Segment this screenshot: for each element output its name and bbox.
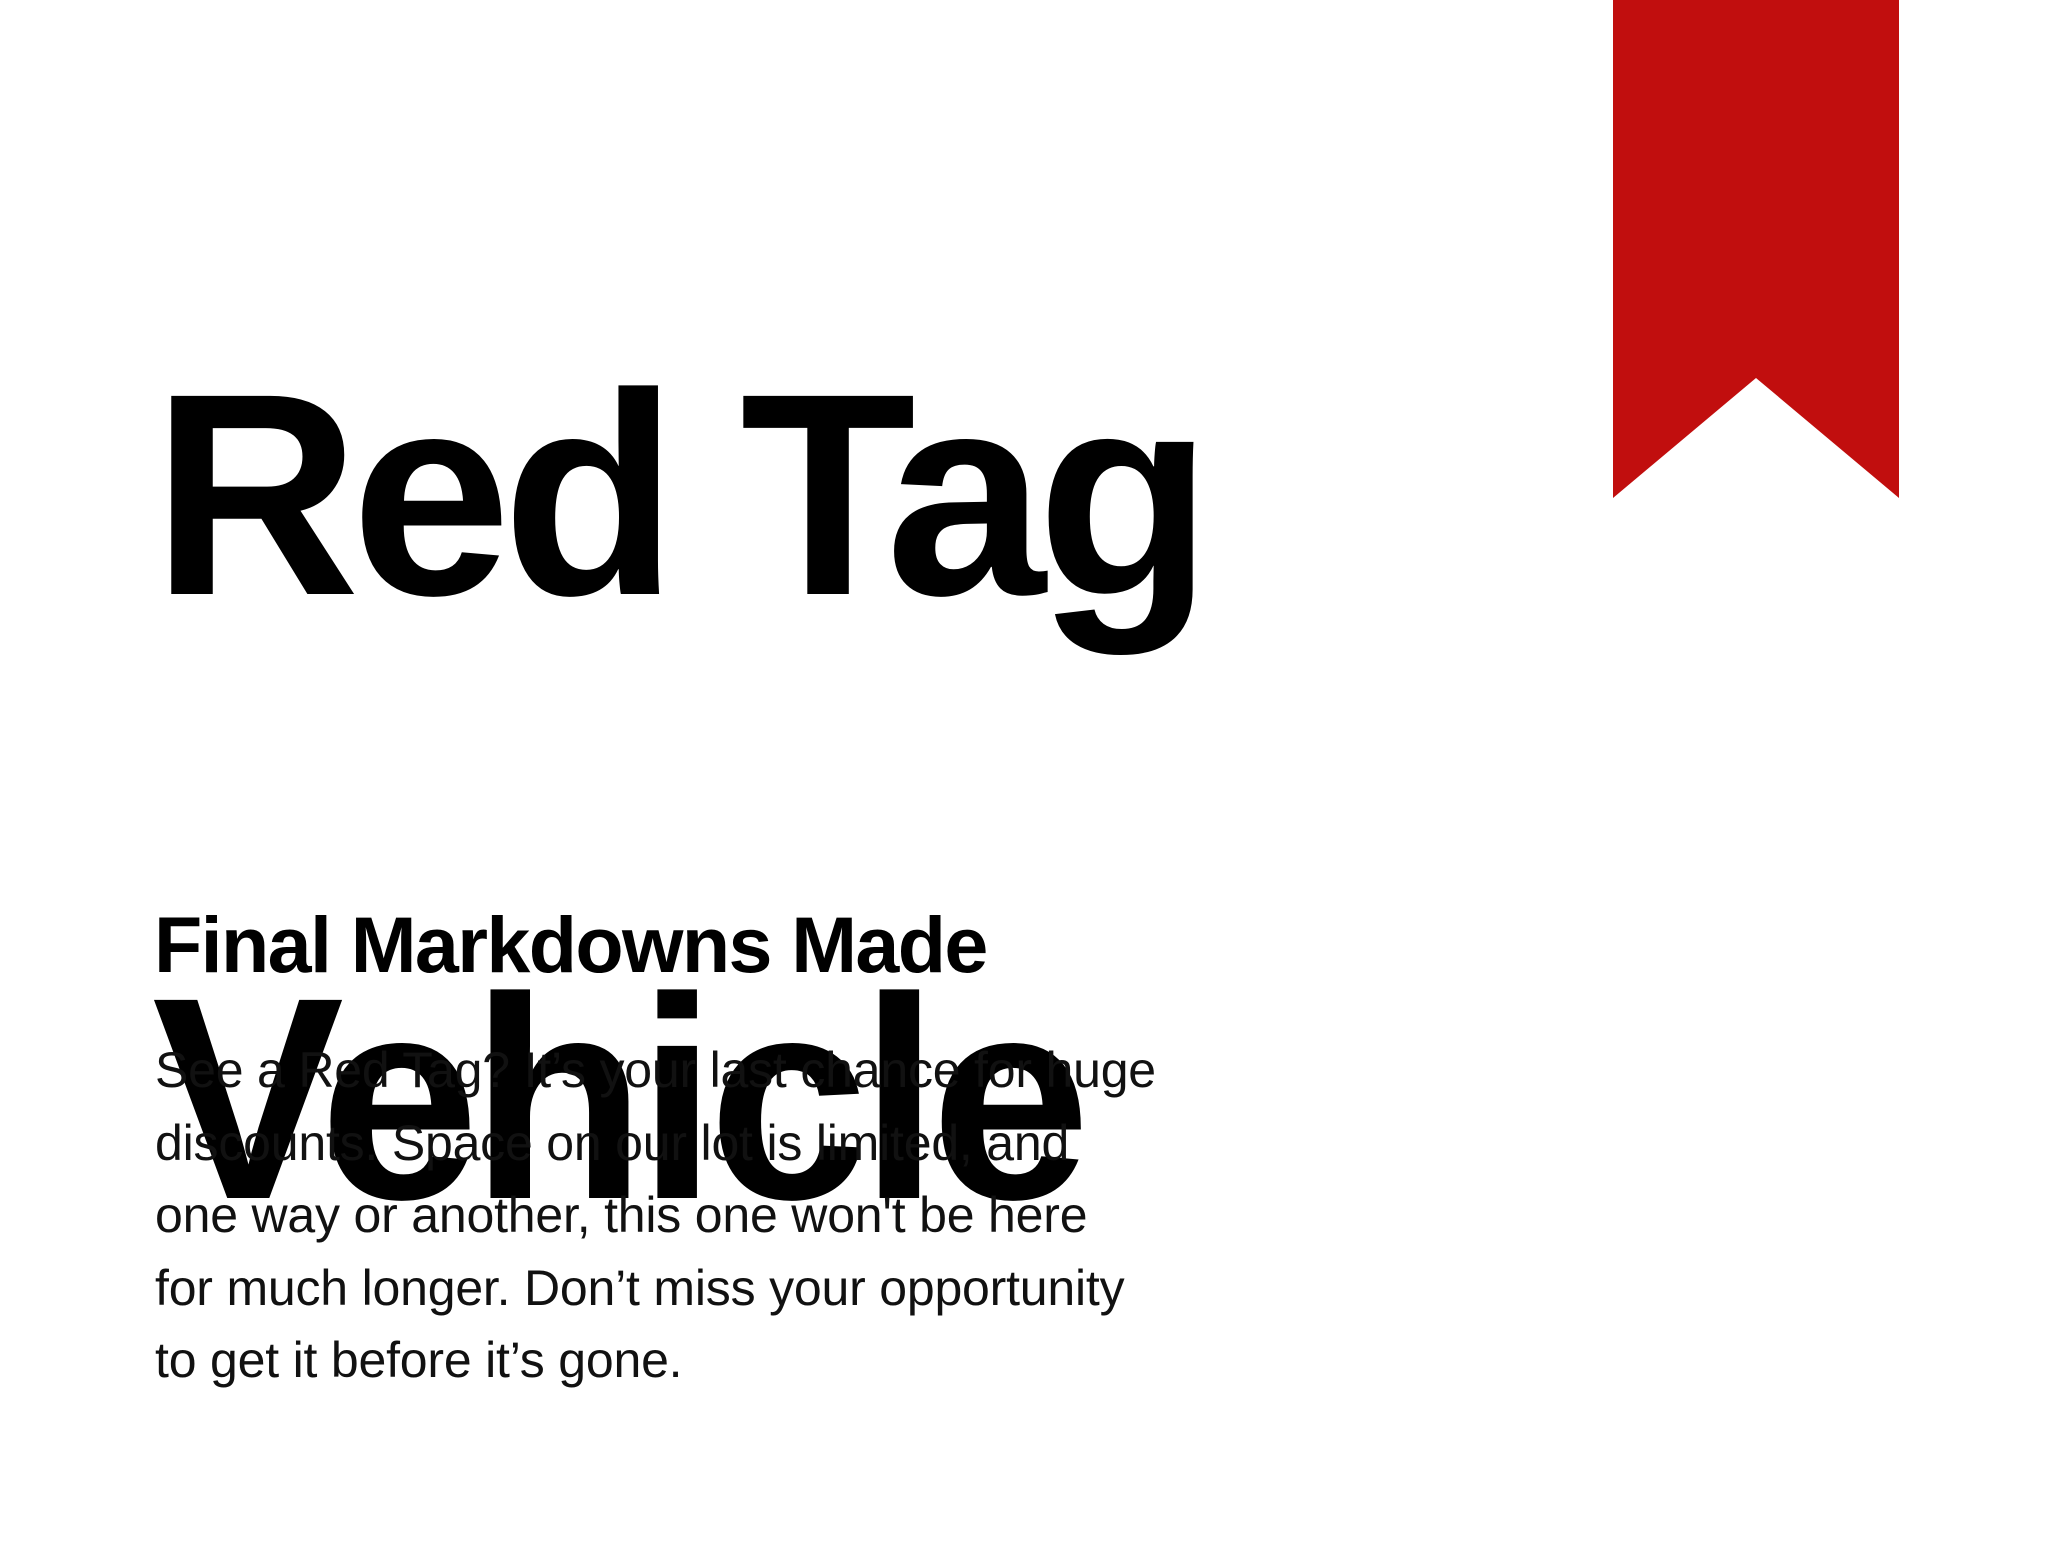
body-line-3: one way or another, this one won't be he… — [155, 1179, 1247, 1252]
body-line-5: to get it before it’s gone. — [155, 1324, 1247, 1397]
body-line-4: for much longer. Don’t miss your opportu… — [155, 1252, 1247, 1325]
red-tag-ribbon — [1613, 0, 1899, 498]
subheadline: Final Markdowns Made — [154, 902, 1274, 988]
headline-line-1: Red Tag — [152, 344, 1332, 646]
promo-banner-canvas: Red Tag Vehicle Final Markdowns Made See… — [0, 0, 2048, 1536]
body-line-1: See a Red Tag? It’s your last chance for… — [155, 1034, 1247, 1107]
body-line-2: discounts. Space on our lot is limited, … — [155, 1107, 1247, 1180]
ribbon-shape — [1613, 0, 1899, 498]
bookmark-ribbon-icon — [1613, 0, 1899, 498]
body-paragraph: See a Red Tag? It’s your last chance for… — [155, 1034, 1247, 1397]
